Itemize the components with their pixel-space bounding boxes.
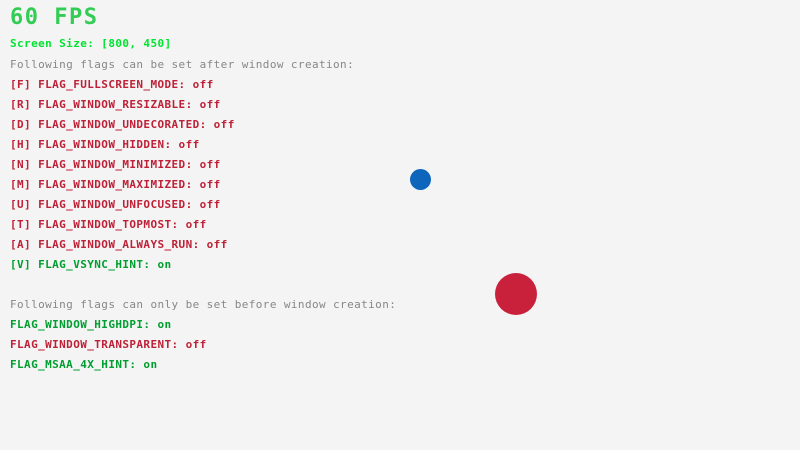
flag-row-flag-fullscreen-mode[interactable]: [F] FLAG_FULLSCREEN_MODE: off	[10, 79, 214, 90]
flag-row-flag-window-undecorated[interactable]: [D] FLAG_WINDOW_UNDECORATED: off	[10, 119, 235, 130]
screen-size-label: Screen Size: [800, 450]	[10, 38, 172, 49]
flag-row-flag-msaa-4x-hint[interactable]: FLAG_MSAA_4X_HINT: on	[10, 359, 157, 370]
hud-overlay: 60 FPS Screen Size: [800, 450] Following…	[0, 0, 800, 450]
flag-row-flag-window-resizable[interactable]: [R] FLAG_WINDOW_RESIZABLE: off	[10, 99, 221, 110]
section-header-before-creation: Following flags can only be set before w…	[10, 299, 396, 310]
fps-counter: 60 FPS	[10, 7, 98, 29]
flag-row-flag-window-highdpi[interactable]: FLAG_WINDOW_HIGHDPI: on	[10, 319, 172, 330]
flag-row-flag-window-topmost[interactable]: [T] FLAG_WINDOW_TOPMOST: off	[10, 219, 207, 230]
flag-row-flag-window-minimized[interactable]: [N] FLAG_WINDOW_MINIMIZED: off	[10, 159, 221, 170]
flag-row-flag-window-always-run[interactable]: [A] FLAG_WINDOW_ALWAYS_RUN: off	[10, 239, 228, 250]
section-header-after-creation: Following flags can be set after window …	[10, 59, 354, 70]
raylib-window: 60 FPS Screen Size: [800, 450] Following…	[0, 0, 800, 450]
flag-row-flag-window-transparent[interactable]: FLAG_WINDOW_TRANSPARENT: off	[10, 339, 207, 350]
flag-row-flag-window-unfocused[interactable]: [U] FLAG_WINDOW_UNFOCUSED: off	[10, 199, 221, 210]
flag-row-flag-vsync-hint[interactable]: [V] FLAG_VSYNC_HINT: on	[10, 259, 172, 270]
flag-row-flag-window-hidden[interactable]: [H] FLAG_WINDOW_HIDDEN: off	[10, 139, 200, 150]
flag-row-flag-window-maximized[interactable]: [M] FLAG_WINDOW_MAXIMIZED: off	[10, 179, 221, 190]
